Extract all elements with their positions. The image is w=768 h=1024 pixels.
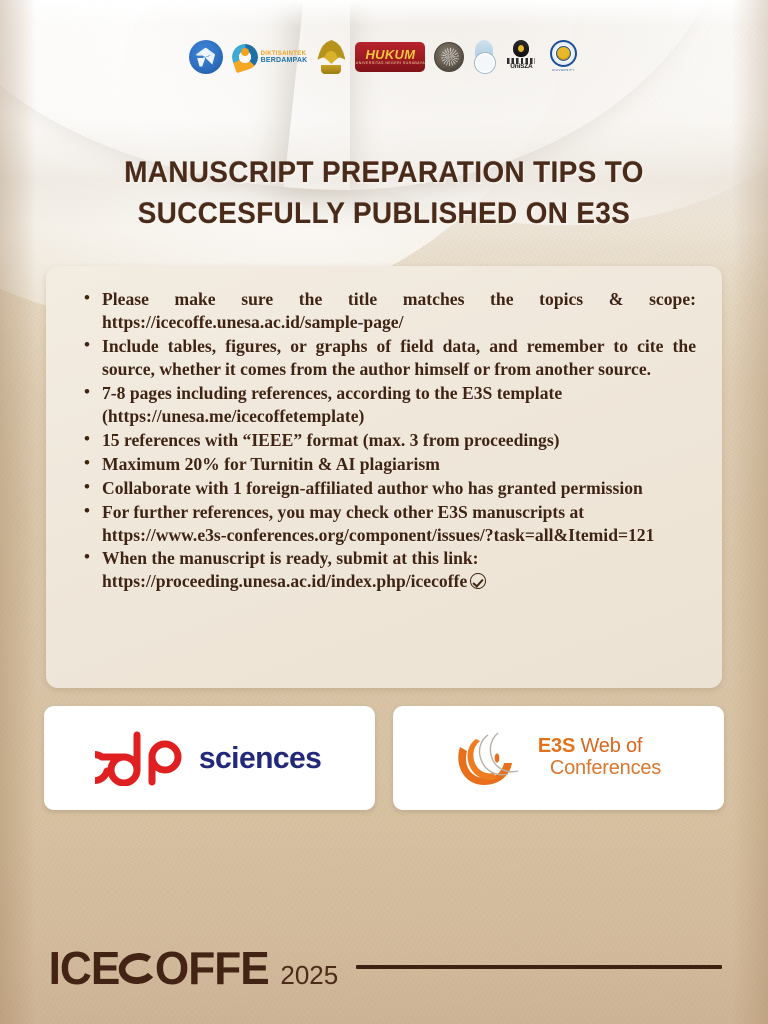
coffee-bean-c-icon: [117, 950, 158, 985]
diktisaintek-line1: DIKTISAINTEK: [261, 51, 308, 57]
icecoffe-part1: ICE: [49, 941, 120, 995]
page-title: MANUSCRIPT PREPARATION TIPS TO SUCCESFUL…: [0, 152, 768, 235]
seal-logo-icon: [434, 42, 464, 72]
e3s-web-of-conferences-panel: E3S Web of Conferences: [393, 706, 724, 810]
unisza-logo-icon: UniSZA: [504, 40, 538, 74]
title-line-1: MANUSCRIPT PREPARATION TIPS TO: [27, 152, 741, 193]
edp-sciences-panel: sciences: [44, 706, 375, 810]
title-line-2: SUCCESFULLY PUBLISHED ON E3S: [27, 193, 741, 234]
icecoffe-logo: ICEOFFE 2025: [44, 941, 338, 995]
e3s-line1-rest: Web of: [575, 735, 642, 757]
submit-text: When the manuscript is ready, submit at …: [102, 548, 479, 591]
footer-rule: [356, 965, 722, 969]
blue-ring-caption: UNIVERSITY: [552, 68, 575, 72]
unisza-crest-icon: [513, 40, 529, 57]
list-item: Include tables, figures, or graphs of fi…: [82, 335, 696, 381]
e3s-brand: E3S: [538, 735, 575, 757]
hukum-wordmark: HUKUM: [365, 48, 415, 61]
top-white-edge: [0, 0, 768, 26]
check-circle-icon: [470, 573, 486, 589]
edp-sciences-wordmark: sciences: [199, 740, 321, 776]
e3s-line-2: Conferences: [550, 758, 661, 780]
e3s-swoosh-icon: [452, 727, 530, 789]
diktisaintek-line2: BERDAMPAK: [261, 57, 308, 64]
sponsor-panels: sciences E3S Web of Conferences: [44, 706, 724, 810]
list-item-submit: When the manuscript is ready, submit at …: [82, 547, 696, 593]
diktisaintek-berdampak-logo-icon: DIKTISAINTEK BERDAMPAK: [232, 44, 308, 70]
icecoffe-wordmark: ICEOFFE: [49, 941, 269, 995]
hukum-subtitle: UNIVERSITAS NEGERI SURABAYA: [356, 62, 425, 66]
list-item: Maximum 20% for Turnitin & AI plagiarism: [82, 453, 696, 476]
kemdikbud-tutwuri-logo-icon: [189, 40, 223, 74]
footer: ICEOFFE 2025: [0, 940, 768, 996]
unisza-wordmark: UniSZA: [510, 64, 532, 71]
tips-card: Please make sure the title matches the t…: [46, 266, 722, 688]
list-item: Collaborate with 1 foreign-affiliated au…: [82, 477, 696, 500]
edp-logo-icon: [95, 730, 191, 786]
list-item: Please make sure the title matches the t…: [82, 288, 696, 334]
icecoffe-part2: OFFE: [155, 941, 269, 995]
list-item: 7-8 pages including references, accordin…: [82, 382, 696, 428]
e3s-line-1: E3S Web of: [538, 736, 661, 758]
unesa-logo-icon: [316, 39, 346, 75]
tips-bullet-list: Please make sure the title matches the t…: [82, 288, 696, 593]
blue-ring-university-logo-icon: UNIVERSITY: [547, 40, 579, 74]
header-logo-strip: DIKTISAINTEK BERDAMPAK HUKUM UNIVERSITAS…: [0, 34, 768, 80]
list-item: For further references, you may check ot…: [82, 501, 696, 547]
diktisaintek-mark-icon: [232, 44, 258, 70]
poster-root: DIKTISAINTEK BERDAMPAK HUKUM UNIVERSITAS…: [0, 0, 768, 1024]
hukum-unesa-logo-icon: HUKUM UNIVERSITAS NEGERI SURABAYA: [355, 42, 425, 72]
blue-ring-icon: [550, 40, 577, 67]
icecoffe-year: 2025: [280, 960, 338, 991]
list-item: 15 references with “IEEE” format (max. 3…: [82, 429, 696, 452]
pale-emblem-logo-icon: [473, 40, 495, 74]
